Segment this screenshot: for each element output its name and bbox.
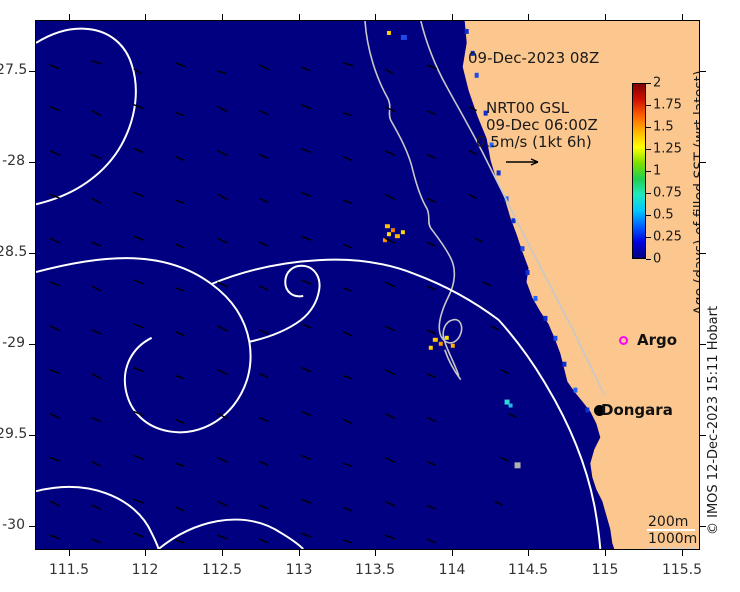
x-tick-label: 113.5: [345, 562, 405, 578]
x-tick-mark: [69, 550, 70, 556]
colorbar-tick-label: 2: [653, 76, 661, 91]
y-tick-label: -30: [0, 517, 25, 533]
reference-arrow-icon: [506, 157, 546, 167]
map-plot-area[interactable]: 09-Dec-2023 08Z NRT00 GSL 09-Dec 06:00Z …: [35, 20, 700, 550]
colorbar-tick-label: 0.5: [653, 208, 674, 223]
colorbar-tick-label: 1.5: [653, 120, 674, 135]
colorbar-gradient: [632, 83, 646, 259]
contour-1000m-swatch: [647, 547, 695, 549]
colorbar-tick-mark: [646, 237, 651, 238]
bathymetry-1000m-row: 1000m: [648, 531, 697, 548]
colorbar-tick-label: 0.25: [653, 230, 682, 245]
figure-canvas: 09-Dec-2023 08Z NRT00 GSL 09-Dec 06:00Z …: [0, 0, 740, 592]
vector-scale-line: 0.5m/s (1kt 6h): [476, 133, 592, 151]
y-tick-mark: [29, 162, 35, 163]
bathymetry-200m-row: 200m: [648, 514, 697, 531]
bathymetry-legend: 200m 1000m: [648, 514, 697, 548]
colorbar-tick-mark: [646, 105, 651, 106]
y-tick-mark: [29, 253, 35, 254]
colorbar-tick-mark: [646, 149, 651, 150]
x-tick-mark: [605, 550, 606, 556]
x-tick-mark-top: [145, 14, 146, 20]
x-tick-mark: [145, 550, 146, 556]
x-tick-mark-top: [375, 14, 376, 20]
colorbar-tick-mark: [646, 83, 651, 84]
colorbar-tick-mark: [646, 127, 651, 128]
colorbar-tick-label: 1: [653, 164, 661, 179]
x-tick-mark-top: [69, 14, 70, 20]
x-tick-label: 111.5: [39, 562, 99, 578]
x-tick-mark: [375, 550, 376, 556]
y-tick-mark: [29, 71, 35, 72]
model-source-line: NRT00 GSL: [486, 99, 569, 117]
legend-item-argo[interactable]: Argo: [619, 331, 677, 349]
sst-age-field: [36, 21, 699, 549]
x-tick-mark-top: [452, 14, 453, 20]
colorbar-tick-label: 0.75: [653, 186, 682, 201]
model-time-line: 09-Dec 06:00Z: [486, 116, 598, 134]
x-tick-label: 114: [422, 562, 482, 578]
x-tick-mark: [222, 550, 223, 556]
dongara-label: Dongara: [601, 401, 673, 419]
x-tick-mark-top: [605, 14, 606, 20]
x-tick-label: 114.5: [498, 562, 558, 578]
y-tick-label: -29.5: [0, 426, 25, 442]
x-tick-mark: [528, 550, 529, 556]
copyright-notice: © IMOS 12-Dec-2023 15:11 Hobart: [706, 306, 721, 535]
y-tick-label: -28: [0, 153, 25, 169]
x-tick-mark-top: [682, 14, 683, 20]
bathymetry-1000m-label: 1000m: [648, 531, 697, 547]
y-tick-mark: [29, 435, 35, 436]
colorbar-tick-label: 1.25: [653, 142, 682, 157]
x-tick-mark-top: [528, 14, 529, 20]
y-tick-label: -29: [0, 335, 25, 351]
y-tick-label: -27.5: [0, 62, 25, 78]
x-tick-label: 112.5: [192, 562, 252, 578]
bathymetry-200m-label: 200m: [648, 514, 688, 530]
x-tick-label: 113: [269, 562, 329, 578]
date-stamp: 09-Dec-2023 08Z: [468, 49, 599, 67]
argo-label: Argo: [637, 331, 677, 349]
x-tick-label: 115.5: [652, 562, 712, 578]
y-tick-mark-right: [700, 162, 706, 163]
y-tick-mark: [29, 344, 35, 345]
x-tick-mark: [299, 550, 300, 556]
colorbar-tick-mark: [646, 259, 651, 260]
colorbar-tick-mark: [646, 215, 651, 216]
x-tick-label: 112: [115, 562, 175, 578]
x-tick-mark-top: [222, 14, 223, 20]
colorbar-tick-mark: [646, 171, 651, 172]
x-tick-mark: [682, 550, 683, 556]
y-tick-mark-right: [700, 71, 706, 72]
colorbar-tick-label: 0: [653, 252, 661, 267]
colorbar-title: Age (days) of filled SST (wrt latest): [692, 70, 700, 315]
argo-marker-icon: [619, 336, 628, 345]
colorbar-tick-label: 1.75: [653, 98, 682, 113]
colorbar-tick-mark: [646, 193, 651, 194]
x-tick-mark: [452, 550, 453, 556]
y-tick-mark-right: [700, 253, 706, 254]
y-tick-mark: [29, 526, 35, 527]
y-tick-label: -28.5: [0, 244, 25, 260]
x-tick-label: 115: [575, 562, 635, 578]
x-tick-mark-top: [299, 14, 300, 20]
